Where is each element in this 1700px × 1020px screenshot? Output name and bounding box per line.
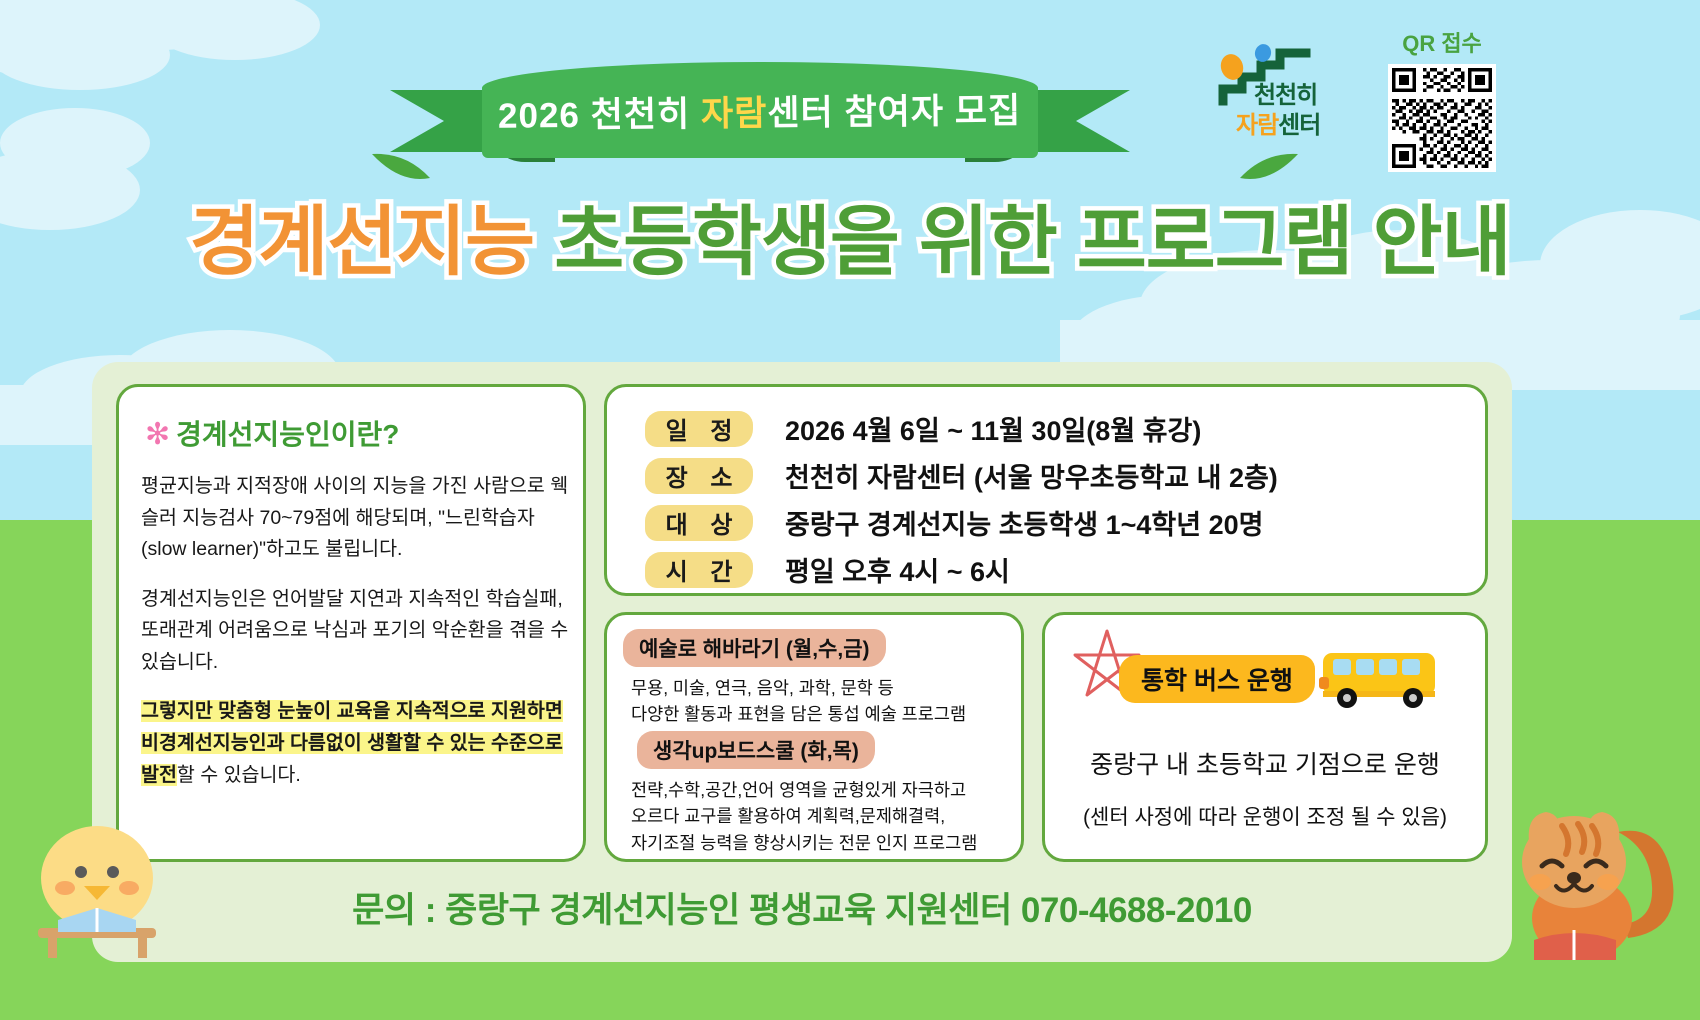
programs-card: 예술로 해바라기 (월,수,금) 무용, 미술, 연극, 음악, 과학, 문학 … [604, 612, 1024, 862]
program-title-tag: 예술로 해바라기 (월,수,금) [623, 629, 886, 667]
about-paragraph-2: 경계선지능인은 언어발달 지연과 지속적인 학습실패, 또래관계 어려움으로 낙… [141, 584, 571, 679]
page-title: 경계선지능 초등학생을 위한 프로그램 안내 [0, 180, 1700, 290]
logo-line-2-green: 센터 [1278, 112, 1320, 139]
page-title-green: 초등학생을 위한 프로그램 안내 [534, 200, 1510, 285]
content-panel: ✻경계선지능인이란? 평균지능과 지적장애 사이의 지능을 가진 사람으로 웩슬… [92, 362, 1512, 962]
schedule-label: 장 소 [645, 458, 753, 494]
ribbon-text-post: 센터 참여자 모집 [768, 91, 1022, 133]
cloud-shape [0, 20, 170, 90]
asterisk-icon: ✻ [145, 418, 170, 451]
qr-block: QR 접수 [1382, 26, 1502, 177]
schedule-value: 천천히 자람센터 (서울 망우초등학교 내 2층) [785, 456, 1278, 495]
schedule-value: 평일 오후 4시 ~ 6시 [785, 550, 1010, 589]
about-title: ✻경계선지능인이란? [145, 413, 399, 453]
bus-tag: 통학 버스 운행 [1119, 655, 1315, 703]
program-description-line: 다양한 활동과 표현을 담은 통섭 예술 프로그램 [631, 701, 1015, 727]
about-card: ✻경계선지능인이란? 평균지능과 지적장애 사이의 지능을 가진 사람으로 웩슬… [116, 384, 586, 862]
schedule-row: 시 간 평일 오후 4시 ~ 6시 [645, 550, 1010, 589]
program-description-line: 자기조절 능력을 향상시키는 전문 인지 프로그램 [631, 830, 1015, 856]
schedule-row: 대 상 중랑구 경계선지능 초등학생 1~4학년 20명 [645, 503, 1263, 542]
center-logo: 천천히 자람센터 [1218, 35, 1348, 145]
ribbon-text-pre: 2026 천천히 [498, 94, 701, 135]
logo-line-2-orange: 자람 [1236, 112, 1278, 139]
squirrel-reading-icon [1500, 790, 1685, 965]
bus-description-line-1: 중랑구 내 초등학교 기점으로 운행 [1045, 745, 1485, 781]
school-bus-icon [1317, 647, 1445, 713]
qr-label: QR 접수 [1382, 26, 1502, 58]
cloud-shape [150, 0, 320, 60]
logo-line-2: 자람센터 [1236, 105, 1320, 140]
qr-code-icon[interactable] [1388, 64, 1496, 172]
program-title-tag: 생각up보드스쿨 (화,목) [637, 731, 875, 769]
bus-card: 통학 버스 운행 중랑구 내 초등학교 기점으로 운행 (센터 사정에 따라 운… [1042, 612, 1488, 862]
chick-reading-icon [22, 800, 172, 960]
schedule-label: 시 간 [645, 552, 753, 588]
program-description-line: 전략,수학,공간,언어 영역을 균형있게 자극하고 [631, 777, 1015, 803]
about-paragraph-1: 평균지능과 지적장애 사이의 지능을 가진 사람으로 웩슬러 지능검사 70~7… [141, 471, 571, 566]
program-item: 예술로 해바라기 (월,수,금) 무용, 미술, 연극, 음악, 과학, 문학 … [623, 629, 1015, 728]
schedule-card: 일 정 2026 4월 6일 ~ 11월 30일(8월 휴강) 장 소 천천히 … [604, 384, 1488, 596]
about-body: 평균지능과 지적장애 사이의 지능을 가진 사람으로 웩슬러 지능검사 70~7… [141, 471, 571, 809]
ribbon-text: 2026 천천히 자람센터 참여자 모집 [498, 82, 1022, 138]
schedule-value: 2026 4월 6일 ~ 11월 30일(8월 휴강) [785, 409, 1201, 448]
ribbon-text-highlight: 자람 [701, 93, 768, 133]
about-title-text: 경계선지능인이란? [176, 419, 399, 450]
about-paragraph-3-tail: 할 수 있습니다. [177, 764, 301, 786]
bus-description-line-2: (센터 사정에 따라 운행이 조정 될 수 있음) [1045, 801, 1485, 831]
schedule-row: 일 정 2026 4월 6일 ~ 11월 30일(8월 휴강) [645, 409, 1201, 448]
schedule-value: 중랑구 경계선지능 초등학생 1~4학년 20명 [785, 503, 1263, 542]
about-paragraph-3: 그렇지만 맞춤형 눈높이 교육을 지속적으로 지원하면 비경계선지능인과 다름없… [141, 696, 571, 791]
poster-root: 2026 천천히 자람센터 참여자 모집 경계선지능 초등학생을 위한 프로그램… [0, 0, 1700, 1020]
page-title-orange: 경계선지능 [189, 200, 534, 285]
schedule-label: 일 정 [645, 411, 753, 447]
ribbon-body: 2026 천천히 자람센터 참여자 모집 [482, 62, 1038, 158]
program-description-line: 무용, 미술, 연극, 음악, 과학, 문학 등 [631, 675, 1015, 701]
contact-footer: 문의 : 중랑구 경계선지능인 평생교육 지원센터 070-4688-2010 [92, 882, 1512, 933]
schedule-row: 장 소 천천히 자람센터 (서울 망우초등학교 내 2층) [645, 456, 1278, 495]
schedule-label: 대 상 [645, 505, 753, 541]
program-description-line: 오르다 교구를 활용하여 계획력,문제해결력, [631, 803, 1015, 829]
ribbon-banner: 2026 천천히 자람센터 참여자 모집 [390, 62, 1130, 172]
program-item: 생각up보드스쿨 (화,목) 전략,수학,공간,언어 영역을 균형있게 자극하고… [623, 731, 1015, 856]
